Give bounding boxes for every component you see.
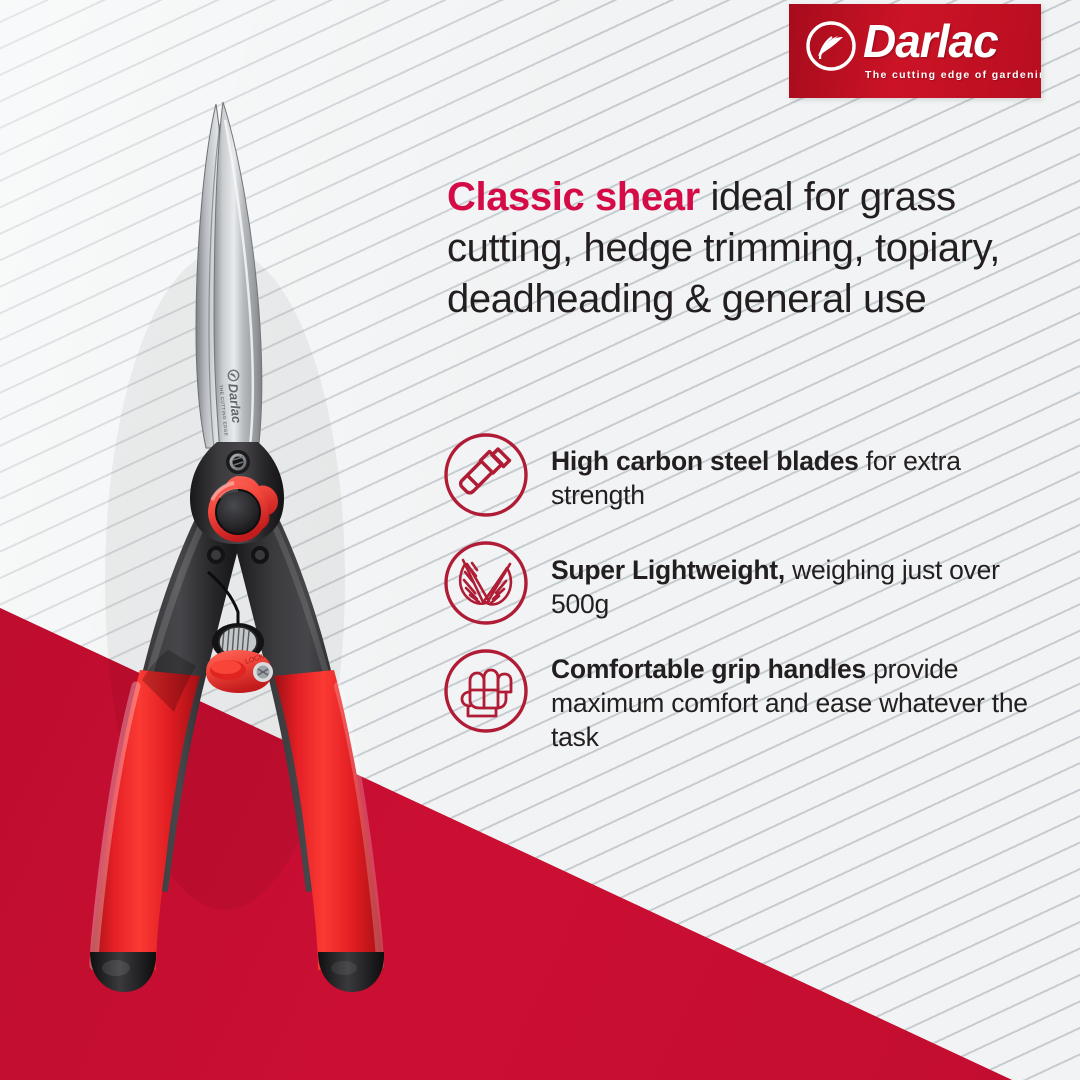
brand-tagline: The cutting edge of gardening...	[865, 69, 1031, 81]
feature-list: High carbon steel blades for extra stren…	[443, 432, 1043, 776]
feature-text: Super Lightweight, weighing just over 50…	[551, 540, 1043, 621]
feature-strong: High carbon steel blades	[551, 446, 859, 476]
list-item: Super Lightweight, weighing just over 50…	[443, 540, 1043, 626]
feature-text: High carbon steel blades for extra stren…	[551, 432, 1043, 512]
fist-grip-icon	[443, 648, 529, 734]
hammer-icon	[443, 432, 529, 518]
list-item: High carbon steel blades for extra stren…	[443, 432, 1043, 518]
feature-strong: Super Lightweight,	[551, 555, 785, 585]
brand-wordmark: Darlac	[863, 18, 998, 64]
darlac-leaf-roundel-icon	[805, 20, 857, 72]
product-image-garden-shear: Darlac THE CUTTING EDGE	[20, 80, 420, 1000]
feature-text: Comfortable grip handles provide maximum…	[551, 648, 1043, 754]
product-feature-banner: Darlac THE CUTTING EDGE	[0, 0, 1080, 1080]
list-item: Comfortable grip handles provide maximum…	[443, 648, 1043, 754]
page-title: Classic shear ideal for grass cutting, h…	[447, 172, 1037, 325]
darlac-logo: Darlac The cutting edge of gardening...	[789, 4, 1041, 98]
headline-accent: Classic shear	[447, 175, 700, 219]
feature-strong: Comfortable grip handles	[551, 654, 866, 684]
feather-icon	[443, 540, 529, 626]
